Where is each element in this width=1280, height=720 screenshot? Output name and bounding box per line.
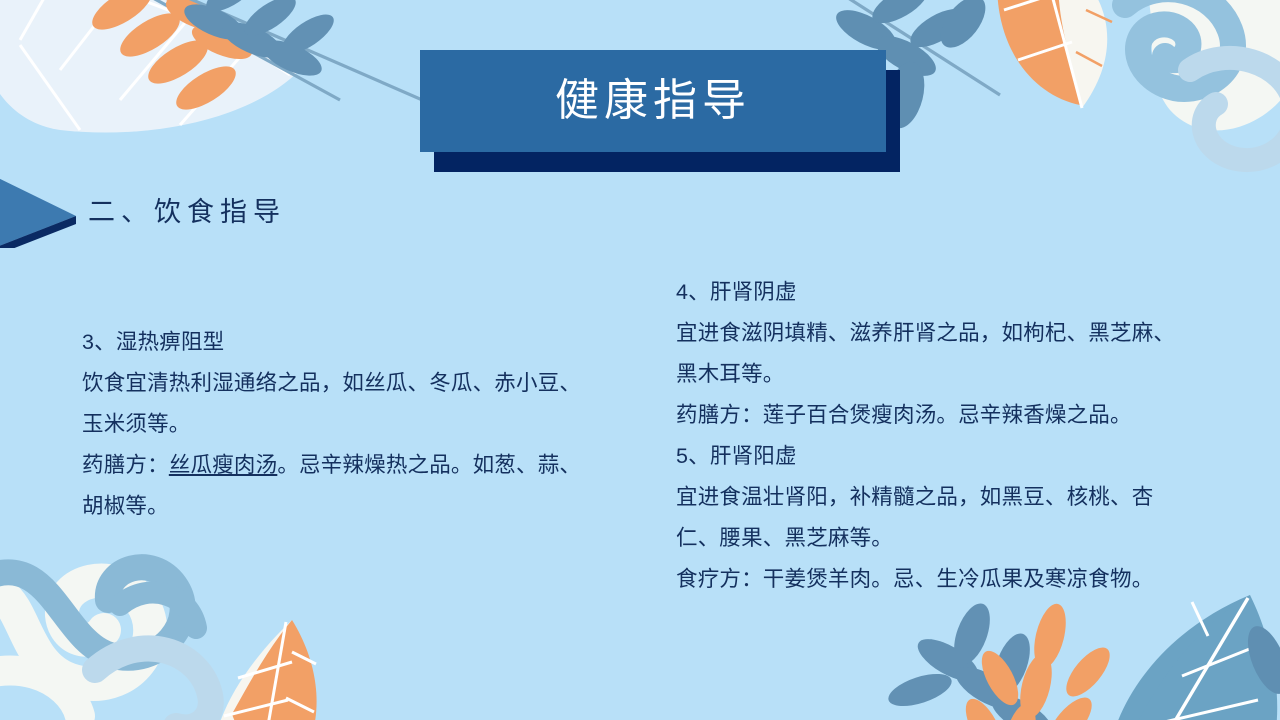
section-arrow-icon [0,176,76,248]
left-heading: 3、湿热痹阻型 [82,322,582,363]
right-heading-5: 5、肝肾阳虚 [676,436,1188,477]
section-title: 二、饮食指导 [88,190,286,229]
page-title: 健康指导 [555,79,751,123]
left-line-1: 饮食宜清热利湿通络之品，如丝瓜、冬瓜、赤小豆、玉米须等。 [82,363,582,445]
top-right-ribbon-waves [1110,0,1280,160]
top-left-white-leaf [0,0,300,133]
bottom-right-blue-sprig [885,599,1070,720]
bottom-right-orange-sprig [958,601,1117,720]
bottom-left-ribbon-waves [0,567,211,720]
right-content-column: 4、肝肾阴虚 宜进食滋阴填精、滋养肝肾之品，如枸杞、黑芝麻、黑木耳等。 药膳方：… [676,272,1188,600]
right-text-4-1: 宜进食滋阴填精、滋养肝肾之品，如枸杞、黑芝麻、黑木耳等。 [676,313,1188,395]
bottom-left-orange-leaf [212,620,317,720]
section-heading-row: 二、饮食指导 [0,176,600,248]
bottom-right-steel-leaf [1106,595,1277,720]
left-content-column: 3、湿热痹阻型 饮食宜清热利湿通络之品，如丝瓜、冬瓜、赤小豆、玉米须等。 药膳方… [82,322,582,527]
slide-canvas: 健康指导 二、饮食指导 3、湿热痹阻型 饮食宜清热利湿通络之品，如丝瓜、冬瓜、赤… [0,0,1280,720]
left-line-2-underlined: 丝瓜瘦肉汤 [169,453,278,477]
left-line-2: 药膳方：丝瓜瘦肉汤。忌辛辣燥热之品。如葱、蒜、胡椒等。 [82,445,582,527]
right-text-5-2: 食疗方：干姜煲羊肉。忌、生冷瓜果及寒凉食物。 [676,559,1188,600]
left-line-2-prefix: 药膳方： [82,453,169,477]
right-text-4-2: 药膳方：莲子百合煲瘦肉汤。忌辛辣香燥之品。 [676,395,1188,436]
top-left-sprig [86,0,340,118]
bottom-right-edge-leaf [1240,621,1280,700]
top-right-orange-leaf [997,0,1112,108]
right-heading-4: 4、肝肾阴虚 [676,272,1188,313]
title-banner: 健康指导 [420,50,886,152]
right-text-5-1: 宜进食温壮肾阳，补精髓之品，如黑豆、核桃、杏仁、腰果、黑芝麻等。 [676,477,1188,559]
